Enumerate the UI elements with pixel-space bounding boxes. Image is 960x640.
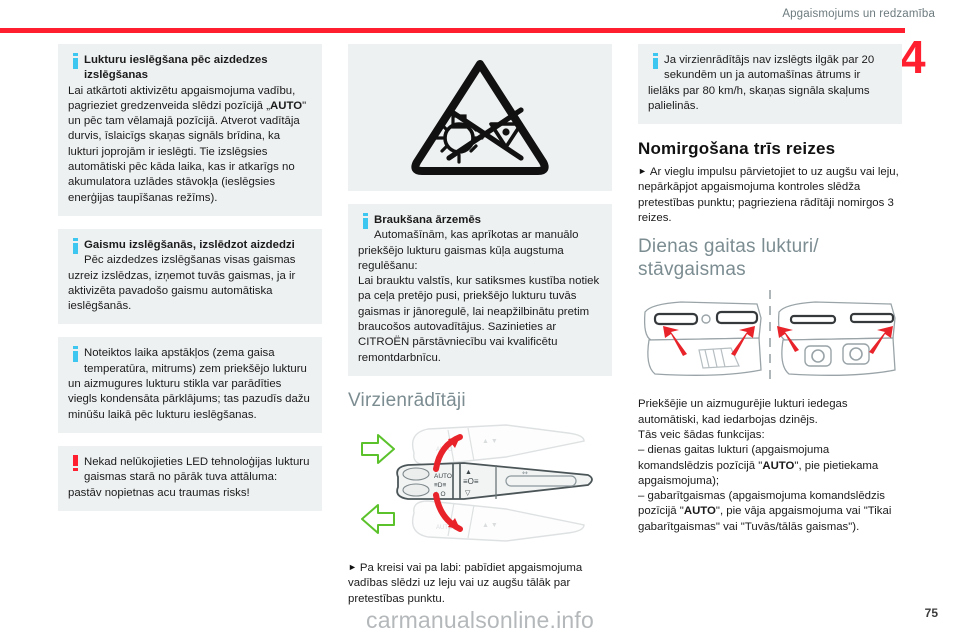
instruction-three-flashes: ►Ar vieglu impulsu pārvietojiet to uz au… (638, 164, 902, 226)
callout-led-eye-warning: Nekad nelūkojieties LED tehnoloģijas luk… (58, 446, 322, 511)
callout-turn-signal-volume: Ja virzienrādītājs nav izslēgts ilgāk pa… (638, 44, 902, 124)
callout-title-row: Lukturu ieslēgšana pēc aizdedzes izslēgš… (68, 53, 312, 84)
callout-lights-off-on-ignition-off: Gaismu izslēgšanās, izslēdzot aizdedzi P… (58, 229, 322, 324)
callout-body: Ja virzienrādītājs nav izslēgts ilgāk pa… (648, 54, 874, 112)
callout-body: Pēc aizdedzes izslēgšanas visas gaismas … (68, 253, 312, 314)
callout-body-row: Ja virzienrādītājs nav izslēgts ilgāk pa… (648, 53, 892, 114)
section-heading-three-flashes: Nomirgošana trīs reizes (638, 137, 902, 160)
led-warning-triangle-figure (348, 44, 612, 191)
instruction-turn-signal: ►Pa kreisi vai pa labi: pabīdiet apgaism… (348, 560, 612, 607)
info-icon (68, 53, 82, 71)
callout-title: Gaismu izslēgšanās, izslēdzot aizdedzi (84, 239, 295, 251)
callout-body-row: Nekad nelūkojieties LED tehnoloģijas luk… (68, 455, 312, 501)
callout-body-2: Lai brauktu valstīs, kur satiksmes kustī… (358, 274, 602, 366)
callout-body-part-2: un pēc tam vēlamajā pozīcijā. Atverot va… (68, 115, 300, 203)
svg-text:▲: ▲ (465, 469, 472, 476)
column-right: Ja virzienrādītājs nav izslēgts ilgāk pa… (638, 44, 902, 535)
warning-icon (68, 455, 82, 473)
led-warning-triangle-icon (405, 50, 555, 178)
info-icon (68, 238, 82, 256)
instruction-text: Ar vieglu impulsu pārvietojiet to uz aug… (638, 166, 899, 224)
info-icon (68, 346, 82, 364)
column-left: Lukturu ieslēgšana pēc aizdedzes izslēgš… (58, 44, 322, 524)
green-arrow-left-icon (362, 505, 394, 533)
svg-text:▽: ▽ (465, 490, 471, 497)
site-watermark: carmanualsonline.info (0, 607, 960, 634)
svg-text:≡O≡: ≡O≡ (463, 477, 479, 486)
drl-bumper-illustration (641, 288, 899, 384)
callout-body-1: Automašīnām, kas aprīkotas ar manuālo pr… (358, 228, 602, 274)
callout-body-part-1: Lai atkārtoti aktivizētu apgaismojuma va… (68, 85, 295, 112)
svg-text:AUTO: AUTO (434, 473, 452, 480)
callout-body-row: Noteiktos laika apstākļos (zema gaisa te… (68, 346, 312, 422)
drl-item-1-auto: AUTO (762, 460, 794, 472)
bullet-arrow-icon: ► (348, 562, 357, 572)
callout-body: Nekad nelūkojieties LED tehnoloģijas luk… (68, 456, 309, 499)
header-red-rule (0, 28, 905, 33)
callout-lights-on-after-ignition-off: Lukturu ieslēgšana pēc aizdedzes izslēgš… (58, 44, 322, 216)
green-arrow-right-icon (362, 435, 394, 463)
drl-item-2: – gabarītgaismas (apgaismojuma komandslē… (638, 489, 902, 535)
section-heading-drl: Dienas gaitas lukturi/ stāvgaismas (638, 235, 902, 281)
info-icon (648, 53, 662, 71)
section-heading-turn-signals: Virzienrādītāji (348, 389, 612, 412)
svg-text:↭: ↭ (522, 470, 528, 477)
daytime-running-lights-figure (638, 288, 902, 389)
auto-keyword: AUTO (270, 100, 302, 112)
page-title: Apgaismojums un redzamība (782, 8, 935, 20)
svg-text:▲ ▼: ▲ ▼ (482, 438, 498, 445)
callout-condensation: Noteiktos laika apstākļos (zema gaisa te… (58, 337, 322, 432)
callout-title: Braukšana ārzemēs (374, 214, 481, 226)
drl-body-1: Priekšējie un aizmugurējie lukturi iedeg… (638, 397, 902, 428)
callout-body: Noteiktos laika apstākļos (zema gaisa te… (68, 347, 310, 420)
callout-title: Lukturu ieslēgšana pēc aizdedzes izslēgš… (84, 54, 268, 81)
turn-signal-stalk-figure: AUTO ▲ ▼ AUTO ▲ ▼ AUT (348, 419, 612, 552)
drl-item-2-auto: AUTO (684, 505, 716, 517)
callout-driving-abroad: Braukšana ārzemēs Automašīnām, kas aprīk… (348, 204, 612, 376)
bullet-arrow-icon: ► (638, 166, 647, 176)
drl-body-2: Tās veic šādas funkcijas: (638, 428, 902, 443)
instruction-text: Pa kreisi vai pa labi: pabīdiet apgaismo… (348, 562, 582, 605)
page-header: Apgaismojums un redzamība 4 (0, 0, 960, 30)
callout-title-row: Braukšana ārzemēs (358, 213, 602, 228)
content-columns: Lukturu ieslēgšana pēc aizdedzes izslēgš… (0, 44, 960, 604)
callout-title-row: Gaismu izslēgšanās, izslēdzot aizdedzi (68, 238, 312, 253)
info-icon (358, 213, 372, 231)
svg-text:▲ ▼: ▲ ▼ (482, 522, 498, 529)
drl-item-1: – dienas gaitas lukturi (apgaismojuma ko… (638, 443, 902, 489)
turn-signal-stalk-illustration: AUTO ▲ ▼ AUTO ▲ ▼ AUT (356, 419, 604, 547)
svg-text:≡D≡: ≡D≡ (434, 482, 446, 489)
page-number: 75 (925, 606, 938, 620)
callout-body: Lai atkārtoti aktivizētu apgaismojuma va… (68, 84, 312, 206)
quote-close: " (302, 100, 306, 112)
column-middle: Braukšana ārzemēs Automašīnām, kas aprīk… (348, 44, 612, 614)
